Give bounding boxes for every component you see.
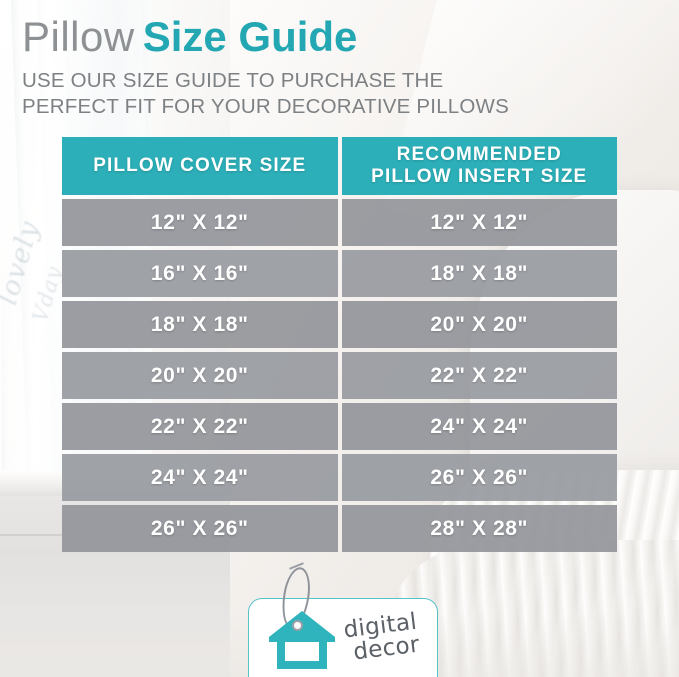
page-subtitle-line-1: USE OUR SIZE GUIDE TO PURCHASE THE [22, 68, 642, 94]
table-cell-insert-size: 22" X 22" [342, 352, 618, 399]
table-cell-cover-size: 22" X 22" [62, 403, 338, 450]
table-cell-cover-size: 18" X 18" [62, 301, 338, 348]
page-title-part-2: Size Guide [143, 13, 358, 60]
table-body: 12" X 12" 12" X 12" 16" X 16" 18" X 18" … [62, 199, 617, 552]
brand-wordmark: digital decor [342, 611, 421, 667]
table-header-insert-size-line-2: PILLOW INSERT SIZE [371, 166, 587, 188]
brand-logo-tag: digital decor [248, 598, 438, 677]
tag-grommet-icon [292, 620, 303, 631]
table-header-row: PILLOW COVER SIZE RECOMMENDED PILLOW INS… [62, 137, 617, 195]
table-cell-insert-size: 20" X 20" [342, 301, 618, 348]
heading-block: PillowSize Guide USE OUR SIZE GUIDE TO P… [22, 12, 642, 119]
table-cell-cover-size: 20" X 20" [62, 352, 338, 399]
brand-wordmark-line-2: decor [352, 634, 421, 665]
table-row: 20" X 20" 22" X 22" [62, 352, 617, 399]
table-cell-cover-size: 12" X 12" [62, 199, 338, 246]
page-subtitle: USE OUR SIZE GUIDE TO PURCHASE THE PERFE… [22, 68, 642, 119]
table-header-insert-size-line-1: RECOMMENDED [371, 144, 587, 166]
page-title-part-1: Pillow [22, 13, 135, 60]
table-row: 18" X 18" 20" X 20" [62, 301, 617, 348]
table-cell-insert-size: 12" X 12" [342, 199, 618, 246]
table-cell-insert-size: 18" X 18" [342, 250, 618, 297]
page-title: PillowSize Guide [22, 12, 642, 62]
pillow-size-table: PILLOW COVER SIZE RECOMMENDED PILLOW INS… [62, 137, 617, 556]
table-row: 26" X 26" 28" X 28" [62, 505, 617, 552]
table-cell-insert-size: 28" X 28" [342, 505, 618, 552]
table-row: 22" X 22" 24" X 24" [62, 403, 617, 450]
table-row: 24" X 24" 26" X 26" [62, 454, 617, 501]
page-subtitle-line-2: PERFECT FIT FOR YOUR DECORATIVE PILLOWS [22, 94, 642, 120]
table-cell-insert-size: 26" X 26" [342, 454, 618, 501]
table-cell-cover-size: 16" X 16" [62, 250, 338, 297]
table-cell-cover-size: 26" X 26" [62, 505, 338, 552]
table-header-cover-size: PILLOW COVER SIZE [62, 137, 338, 195]
table-cell-insert-size: 24" X 24" [342, 403, 618, 450]
table-row: 16" X 16" 18" X 18" [62, 250, 617, 297]
house-outline-icon [265, 607, 339, 673]
table-row: 12" X 12" 12" X 12" [62, 199, 617, 246]
table-header-cover-size-label: PILLOW COVER SIZE [93, 155, 306, 177]
table-header-insert-size: RECOMMENDED PILLOW INSERT SIZE [342, 137, 618, 195]
table-cell-cover-size: 24" X 24" [62, 454, 338, 501]
